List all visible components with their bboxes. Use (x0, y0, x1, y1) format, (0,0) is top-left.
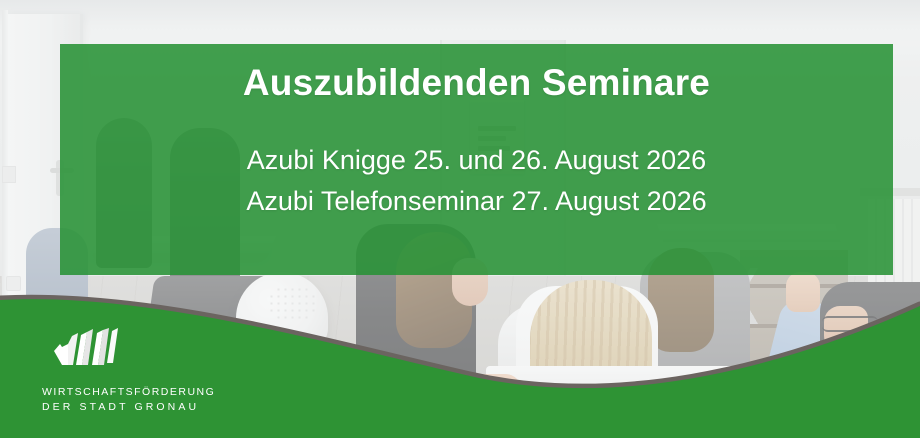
participant-raised-hand (786, 272, 820, 312)
white-chair-perforation (268, 286, 318, 320)
door-frame (2, 10, 8, 314)
logo-wordmark: WIRTSCHAFTSFÖRDERUNG DER STADT GRONAU (42, 385, 232, 417)
seminar-list: Azubi Knigge 25. und 26. August 2026 Azu… (246, 145, 706, 218)
participant-woman-front-hair (530, 280, 652, 438)
participant-hands (452, 374, 522, 408)
power-outlet-icon (6, 276, 21, 291)
light-switch-icon (2, 166, 16, 183)
logo: WIRTSCHAFTSFÖRDERUNG DER STADT GRONAU (42, 327, 232, 417)
seminar-line-2: Azubi Telefonseminar 27. August 2026 (246, 186, 706, 218)
seminar-announcement-banner: Auszubildenden Seminare Azubi Knigge 25.… (0, 0, 920, 438)
logo-line-1: WIRTSCHAFTSFÖRDERUNG (42, 385, 232, 401)
logo-line-2: DER STADT GRONAU (42, 400, 232, 416)
wfg-w-logo-icon (52, 327, 126, 371)
page-title: Auszubildenden Seminare (243, 62, 710, 103)
table-front (486, 366, 736, 406)
glasses-icon (822, 316, 878, 332)
seminar-line-1: Azubi Knigge 25. und 26. August 2026 (247, 145, 706, 177)
headline-panel: Auszubildenden Seminare Azubi Knigge 25.… (60, 44, 893, 275)
